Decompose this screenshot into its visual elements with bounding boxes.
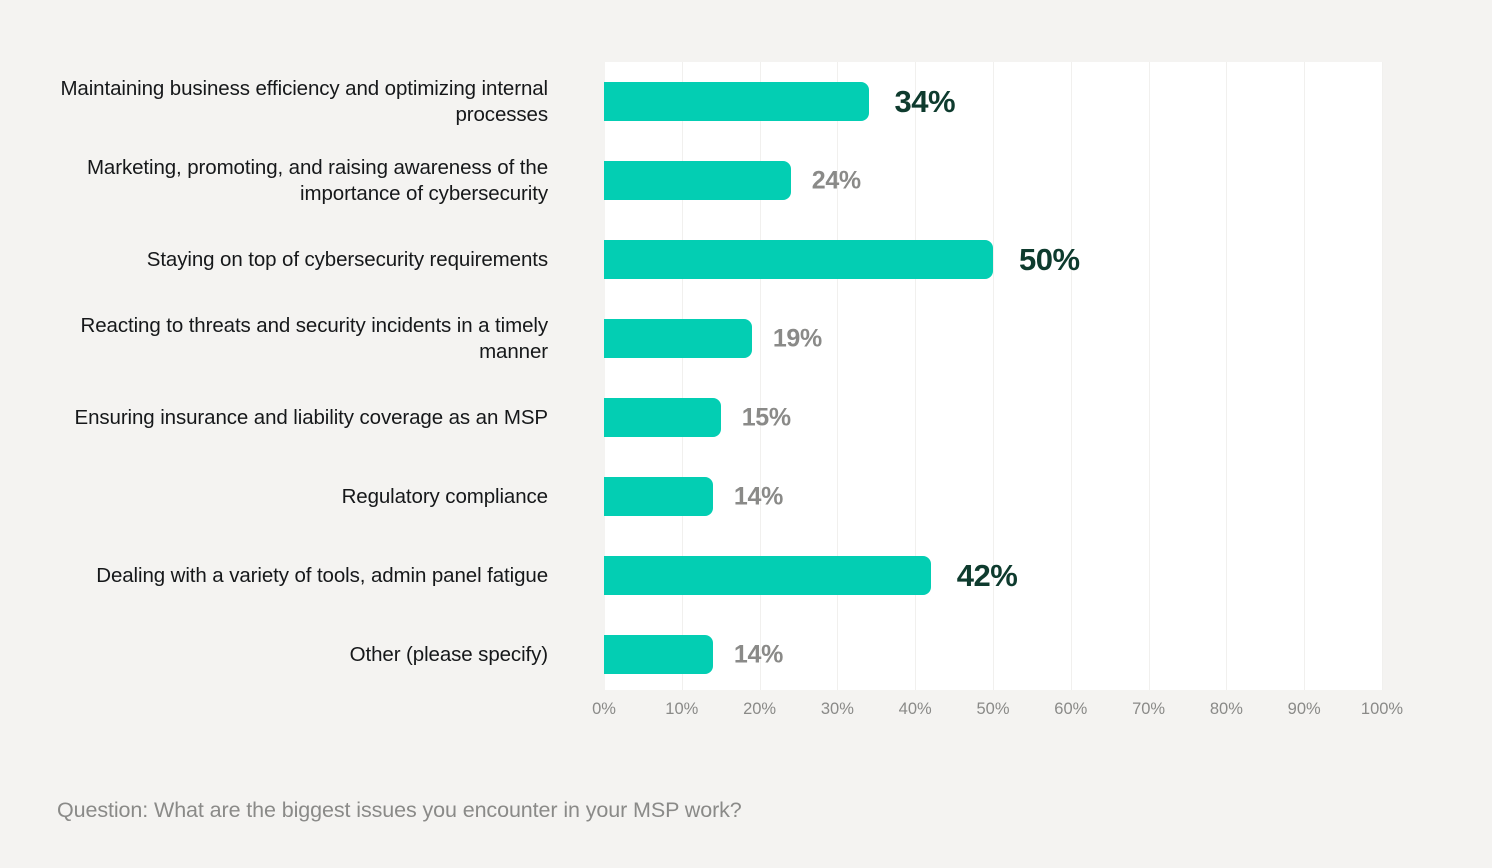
chart-figure: Maintaining business efficiency and opti… [0, 0, 1492, 868]
category-label: Ensuring insurance and liability coverag… [56, 405, 548, 431]
bar-track: 14% [604, 477, 1382, 516]
x-axis-tick: 20% [743, 700, 776, 719]
x-axis-tick: 80% [1210, 700, 1243, 719]
bar[interactable] [604, 161, 791, 200]
chart-row: Dealing with a variety of tools, admin p… [0, 536, 1492, 615]
category-label: Reacting to threats and security inciden… [56, 313, 548, 365]
category-label: Marketing, promoting, and raising awaren… [56, 155, 548, 207]
bar[interactable] [604, 556, 931, 595]
chart-row: Staying on top of cybersecurity requirem… [0, 220, 1492, 299]
bar-value-label: 50% [1019, 242, 1080, 278]
chart-row: Regulatory compliance14% [0, 457, 1492, 536]
bar-value-label: 14% [734, 640, 783, 669]
chart-row: Marketing, promoting, and raising awaren… [0, 141, 1492, 220]
bar-track: 50% [604, 240, 1382, 279]
bar[interactable] [604, 240, 993, 279]
category-label: Other (please specify) [56, 642, 548, 668]
x-axis-tick: 40% [899, 700, 932, 719]
chart-row: Ensuring insurance and liability coverag… [0, 378, 1492, 457]
x-axis: 0%10%20%30%40%50%60%70%80%90%100% [604, 700, 1382, 730]
chart-row: Other (please specify)14% [0, 615, 1492, 694]
bar[interactable] [604, 477, 713, 516]
chart-question-caption: Question: What are the biggest issues yo… [57, 798, 742, 823]
chart-rows: Maintaining business efficiency and opti… [0, 0, 1492, 690]
category-label: Dealing with a variety of tools, admin p… [56, 563, 548, 589]
bar-track: 15% [604, 398, 1382, 437]
bar-value-label: 42% [957, 558, 1018, 594]
chart-row: Reacting to threats and security inciden… [0, 299, 1492, 378]
bar-value-label: 14% [734, 482, 783, 511]
bar-value-label: 34% [895, 84, 956, 120]
x-axis-tick: 100% [1361, 700, 1403, 719]
x-axis-tick: 30% [821, 700, 854, 719]
x-axis-tick: 10% [665, 700, 698, 719]
bar[interactable] [604, 635, 713, 674]
bar-value-label: 19% [773, 324, 822, 353]
x-axis-tick: 60% [1054, 700, 1087, 719]
bar-track: 14% [604, 635, 1382, 674]
bar[interactable] [604, 82, 869, 121]
x-axis-tick: 70% [1132, 700, 1165, 719]
bar-track: 34% [604, 82, 1382, 121]
category-label: Maintaining business efficiency and opti… [56, 76, 548, 128]
bar-track: 42% [604, 556, 1382, 595]
x-axis-tick: 90% [1288, 700, 1321, 719]
bar-chart: Maintaining business efficiency and opti… [0, 0, 1492, 760]
bar[interactable] [604, 398, 721, 437]
chart-row: Maintaining business efficiency and opti… [0, 62, 1492, 141]
x-axis-tick: 50% [976, 700, 1009, 719]
bar-value-label: 24% [812, 166, 861, 195]
category-label: Regulatory compliance [56, 484, 548, 510]
bar-value-label: 15% [742, 403, 791, 432]
bar-track: 24% [604, 161, 1382, 200]
x-axis-tick: 0% [592, 700, 616, 719]
bar-track: 19% [604, 319, 1382, 358]
bar[interactable] [604, 319, 752, 358]
category-label: Staying on top of cybersecurity requirem… [56, 247, 548, 273]
